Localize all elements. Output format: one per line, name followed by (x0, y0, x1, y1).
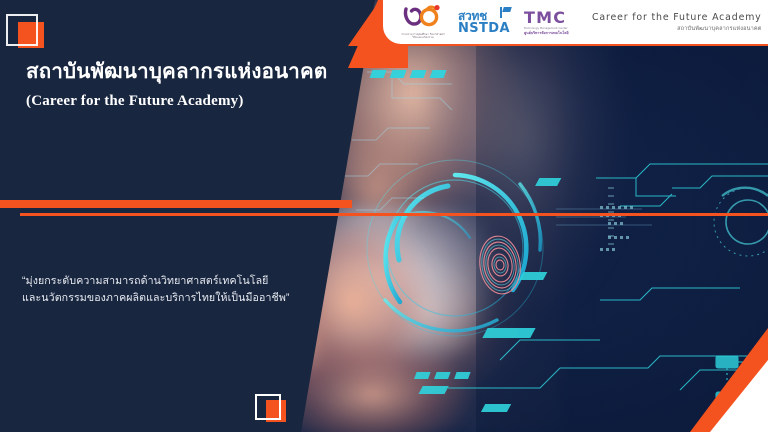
mhesi-logo: กระทรวงการอุดมศึกษา วิทยาศาสตร์ วิจัยและ… (401, 5, 445, 39)
title-block: สถาบันพัฒนาบุคลากรแห่งอนาคต (Career for … (26, 58, 327, 110)
tagline-line-2: และนวัตกรรมของภาคผลิตและบริการไทยให้เป็น… (22, 290, 290, 307)
tmc-sub-th: ศูนย์บริหารจัดการเทคโนโลยี (524, 31, 569, 35)
slide-canvas: กระทรวงการอุดมศึกษา วิทยาศาสตร์ วิจัยและ… (0, 0, 768, 432)
header-brand: Career for the Future Academy สถาบันพัฒน… (592, 12, 762, 33)
page-title-english: (Career for the Future Academy) (26, 93, 327, 110)
tmc-latin-text: TMC (524, 10, 566, 26)
page-title-thai: สถาบันพัฒนาบุคลากรแห่งอนาคต (26, 58, 327, 86)
orange-rule-thin (20, 213, 768, 216)
nstda-logo: สวทช NSTDA (456, 6, 512, 38)
header-logo-bar: กระทรวงการอุดมศึกษา วิทยาศาสตร์ วิจัยและ… (383, 0, 768, 44)
header-brand-thai: สถาบันพัฒนาบุคลากรแห่งอนาคต (592, 25, 762, 33)
tagline-quote: “มุ่งยกระดับความสามารถด้านวิทยาศาสตร์เทค… (22, 273, 290, 307)
top-left-outline-square (6, 14, 38, 46)
nstda-flag-icon (500, 7, 511, 18)
mhesi-caption: กระทรวงการอุดมศึกษา วิทยาศาสตร์ วิจัยและ… (401, 33, 445, 39)
header-brand-english: Career for the Future Academy (592, 12, 762, 23)
tmc-logo: TMC Technology Management Center ศูนย์บร… (523, 6, 575, 38)
bottom-left-outline-square (255, 394, 281, 420)
orange-rule-thick (0, 200, 352, 208)
tagline-line-1: “มุ่งยกระดับความสามารถด้านวิทยาศาสตร์เทค… (22, 273, 290, 290)
nstda-latin-text: NSTDA (458, 22, 510, 35)
